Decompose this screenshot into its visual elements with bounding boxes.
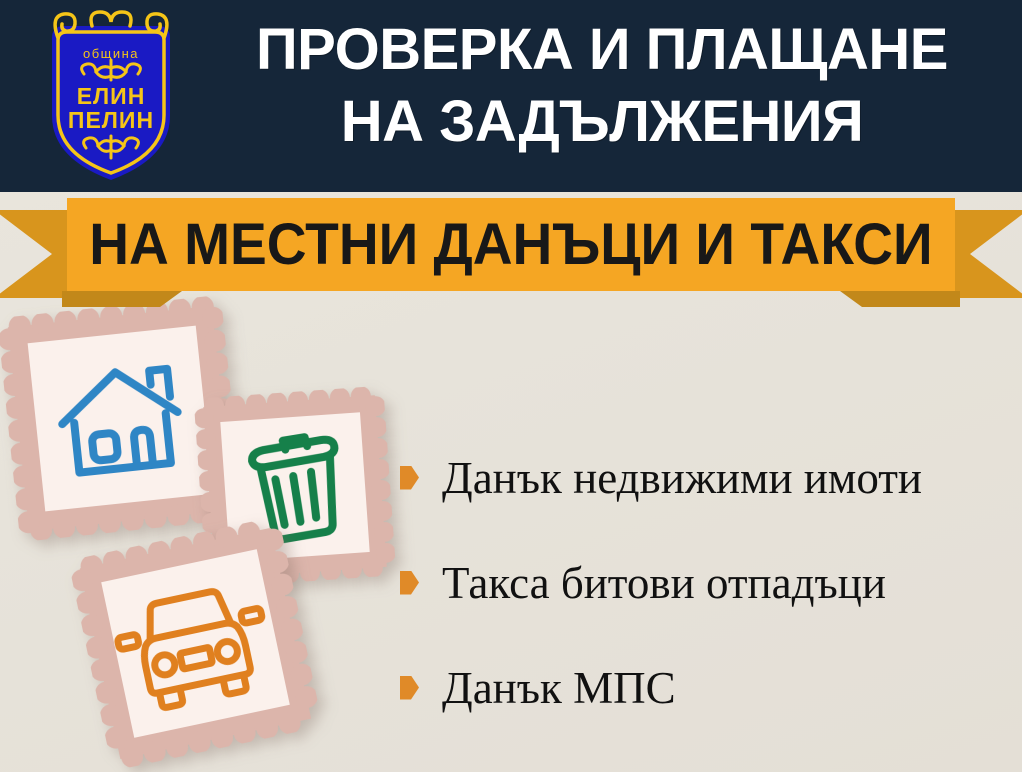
crest-scroll-top [91, 12, 131, 26]
ribbon-fold-left [62, 291, 182, 307]
stamp-paper-house [28, 326, 214, 512]
page-title-line-1: ПРОВЕРКА И ПЛАЩАНЕ [256, 17, 948, 82]
municipality-crest: община ЕЛИН ПЕЛИН [40, 8, 182, 188]
car-stamp-svg [68, 516, 323, 771]
header-bar: община ЕЛИН ПЕЛИН ПРОВЕРКА И ПЛАЩАНЕ [0, 0, 1022, 192]
list-item-label: Данък МПС [442, 663, 676, 713]
poster-canvas: община ЕЛИН ПЕЛИН ПРОВЕРКА И ПЛАЩАНЕ [0, 0, 1022, 772]
stamp-paper-car [101, 549, 290, 738]
bullet-arrow-icon [400, 676, 419, 700]
list-item: Данък недвижими имоти [400, 425, 1015, 530]
crest-label-line2: ПЕЛИН [68, 107, 154, 133]
list-item-label: Данък недвижими имоти [442, 453, 922, 503]
bullet-arrow-icon [400, 571, 419, 595]
page-title: ПРОВЕРКА И ПЛАЩАНЕ НА ЗАДЪЛЖЕНИЯ [196, 14, 1008, 158]
crest-label-line1: ЕЛИН [77, 83, 146, 109]
tax-type-list: Данък недвижими имоти Такса битови отпад… [400, 425, 1015, 740]
list-item: Данък МПС [400, 635, 1015, 740]
crest-svg: община ЕЛИН ПЕЛИН [40, 8, 182, 188]
subtitle-ribbon: НА МЕСТНИ ДАНЪЦИ И ТАКСИ [0, 192, 1022, 307]
bullet-arrow-icon [400, 466, 419, 490]
stamp-card-car [68, 516, 323, 771]
ribbon-fold-right [840, 291, 960, 307]
list-item-label: Такса битови отпадъци [442, 558, 886, 608]
ribbon-label: НА МЕСТНИ ДАНЪЦИ И ТАКСИ [89, 215, 932, 275]
list-item: Такса битови отпадъци [400, 530, 1015, 635]
page-title-line-2: НА ЗАДЪЛЖЕНИЯ [196, 86, 1008, 158]
ribbon-banner: НА МЕСТНИ ДАНЪЦИ И ТАКСИ [67, 198, 955, 291]
